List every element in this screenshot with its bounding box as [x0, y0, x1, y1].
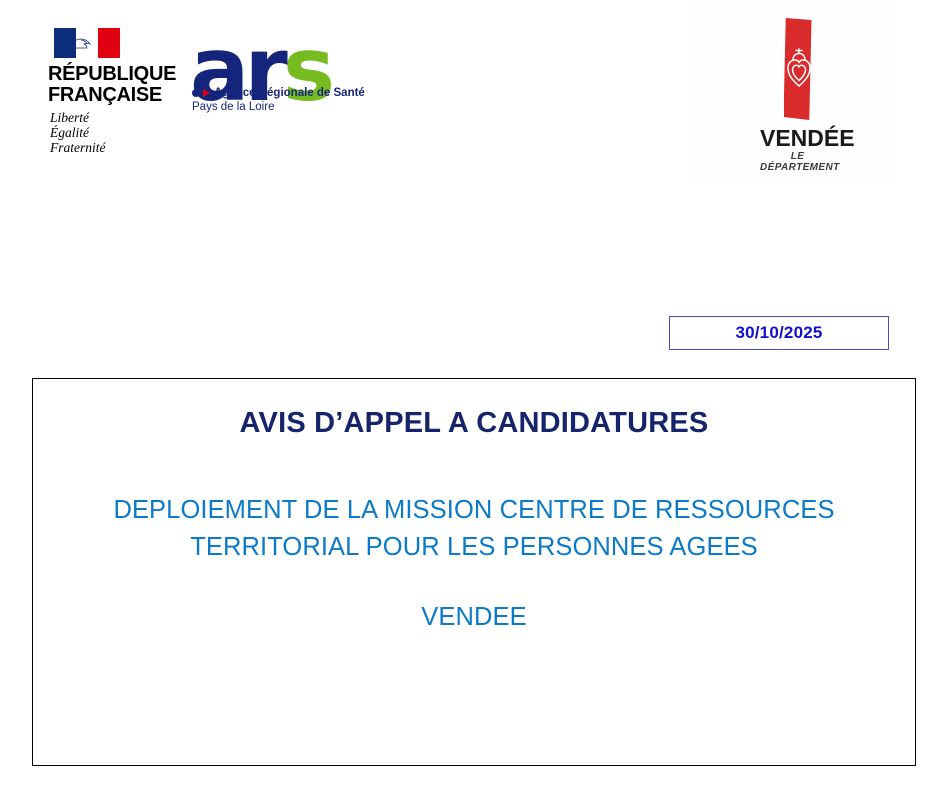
page-title: AVIS D’APPEL A CANDIDATURES	[33, 407, 915, 440]
flag-white-band	[76, 28, 98, 58]
ars-logo: ars Agence Régionale de Santé Pays de la…	[190, 26, 375, 141]
vendeen-heart-icon	[785, 46, 813, 88]
date-value: 30/10/2025	[735, 323, 822, 343]
ars-tagline-text: Agence Régionale de Santé	[214, 87, 365, 99]
blue-dot-icon	[192, 89, 200, 97]
motto-egalite: Égalité	[50, 125, 183, 140]
date-box: 30/10/2025	[669, 316, 889, 350]
vendee-logo: VENDÉE LE DÉPARTEMENT	[760, 18, 835, 173]
motto-liberte: Liberté	[50, 110, 183, 125]
page-region: VENDEE	[33, 603, 915, 632]
red-chevron-icon	[203, 89, 210, 97]
announcement-box: AVIS D’APPEL A CANDIDATURES DEPLOIEMENT …	[32, 378, 916, 766]
republique-title-line1: RÉPUBLIQUE	[48, 64, 183, 85]
ars-region-text: Pays de la Loire	[192, 101, 372, 113]
republique-motto: Liberté Égalité Fraternité	[50, 110, 183, 155]
french-flag-marianne-icon	[54, 28, 120, 58]
republique-title-line2: FRANÇAISE	[48, 85, 183, 106]
flag-blue-band	[54, 28, 76, 58]
vendee-subtitle: LE DÉPARTEMENT	[760, 151, 835, 173]
page-subtitle-line2: TERRITORIAL POUR LES PERSONNES AGEES	[33, 529, 915, 566]
ars-tagline-row: Agence Régionale de Santé	[192, 87, 372, 99]
marianne-silhouette-icon	[76, 33, 95, 53]
vendee-name: VENDÉE	[760, 126, 835, 150]
header-logo-band: RÉPUBLIQUE FRANÇAISE Liberté Égalité Fra…	[0, 0, 933, 190]
flag-red-band	[98, 28, 120, 58]
ars-tagline-block: Agence Régionale de Santé Pays de la Loi…	[192, 87, 372, 113]
motto-fraternite: Fraternité	[50, 140, 183, 155]
page-subtitle-line1: DEPLOIEMENT DE LA MISSION CENTRE DE RESS…	[33, 492, 915, 529]
page-subtitle: DEPLOIEMENT DE LA MISSION CENTRE DE RESS…	[33, 492, 915, 566]
republique-francaise-logo: RÉPUBLIQUE FRANÇAISE Liberté Égalité Fra…	[48, 28, 183, 155]
vendee-banner	[784, 18, 812, 120]
